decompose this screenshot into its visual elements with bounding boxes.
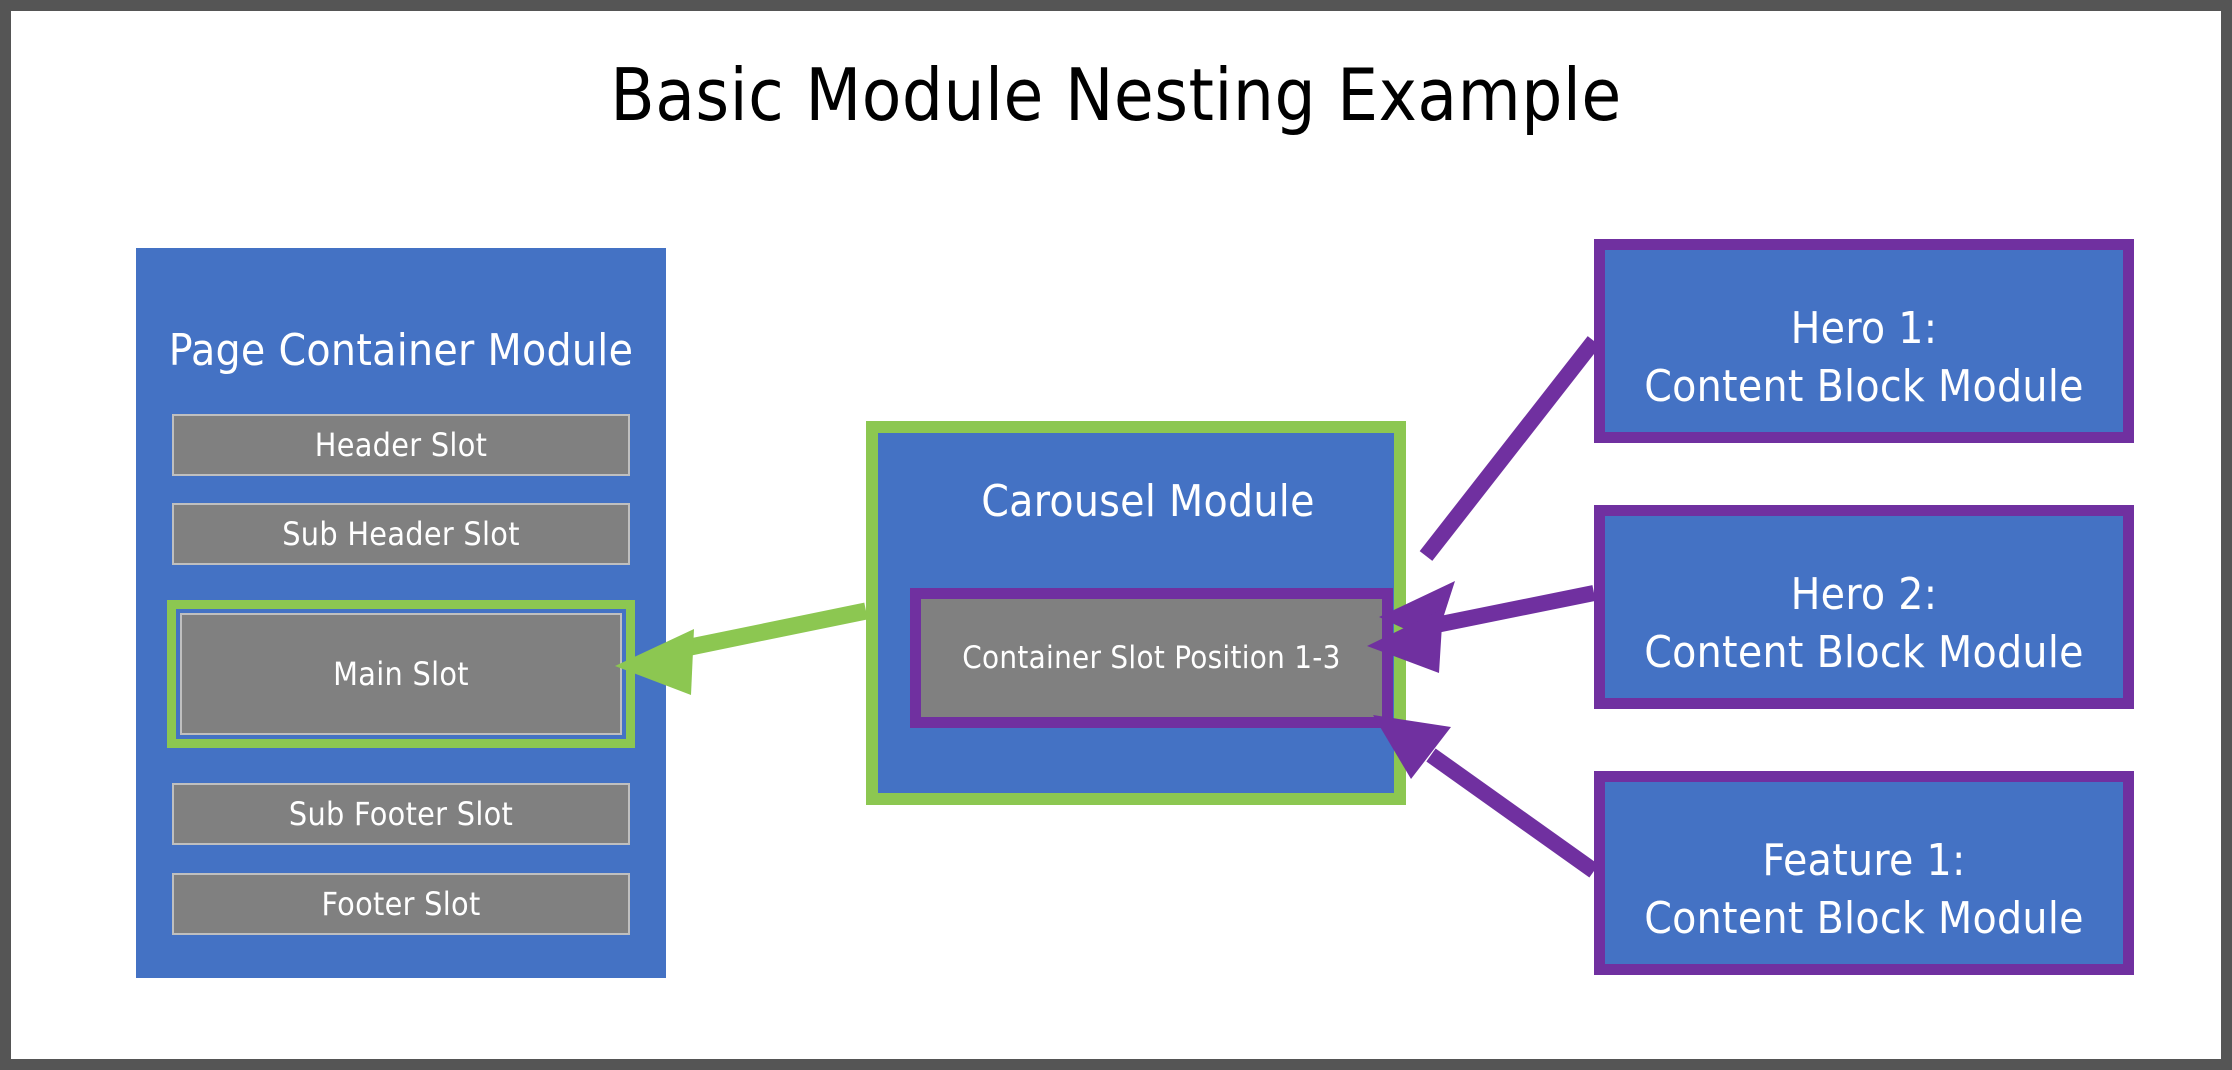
hero-1-line2: Content Block Module [1644,361,2084,412]
diagram-stage: Basic Module Nesting Example Page Contai… [11,11,2221,1059]
arrow-feature-1-to-container-slot [1373,715,1594,871]
slot-main-highlight-frame: Main Slot [167,600,635,748]
slot-footer[interactable]: Footer Slot [172,873,630,935]
slot-sub-header[interactable]: Sub Header Slot [172,503,630,565]
page-title: Basic Module Nesting Example [11,56,2221,135]
slot-main[interactable]: Main Slot [180,613,622,735]
hero-1-label: Hero 1: Content Block Module [1605,300,2123,416]
carousel-module[interactable]: Carousel Module Container Slot Position … [866,421,1406,805]
feature-1-line1: Feature 1: [1762,835,1965,886]
page-container-module[interactable]: Page Container Module Header Slot Sub He… [136,248,666,978]
hero-2-content-block-module[interactable]: Hero 2: Content Block Module [1594,505,2134,709]
feature-1-content-block-module[interactable]: Feature 1: Content Block Module [1594,771,2134,975]
hero-1-line1: Hero 1: [1791,303,1938,354]
slot-sub-footer[interactable]: Sub Footer Slot [172,783,630,845]
carousel-module-title: Carousel Module [878,477,1418,528]
container-slot-highlight-frame: Container Slot Position 1-3 [910,588,1393,728]
slot-header[interactable]: Header Slot [172,414,630,476]
hero-2-label: Hero 2: Content Block Module [1605,566,2123,682]
feature-1-label: Feature 1: Content Block Module [1605,832,2123,948]
hero-2-line2: Content Block Module [1644,627,2084,678]
container-slot-position-1-3[interactable]: Container Slot Position 1-3 [921,599,1382,717]
diagram-canvas: Basic Module Nesting Example Page Contai… [0,0,2232,1070]
page-container-module-title: Page Container Module [136,326,666,377]
feature-1-line2: Content Block Module [1644,893,2084,944]
hero-1-content-block-module[interactable]: Hero 1: Content Block Module [1594,239,2134,443]
hero-2-line1: Hero 2: [1791,569,1938,620]
